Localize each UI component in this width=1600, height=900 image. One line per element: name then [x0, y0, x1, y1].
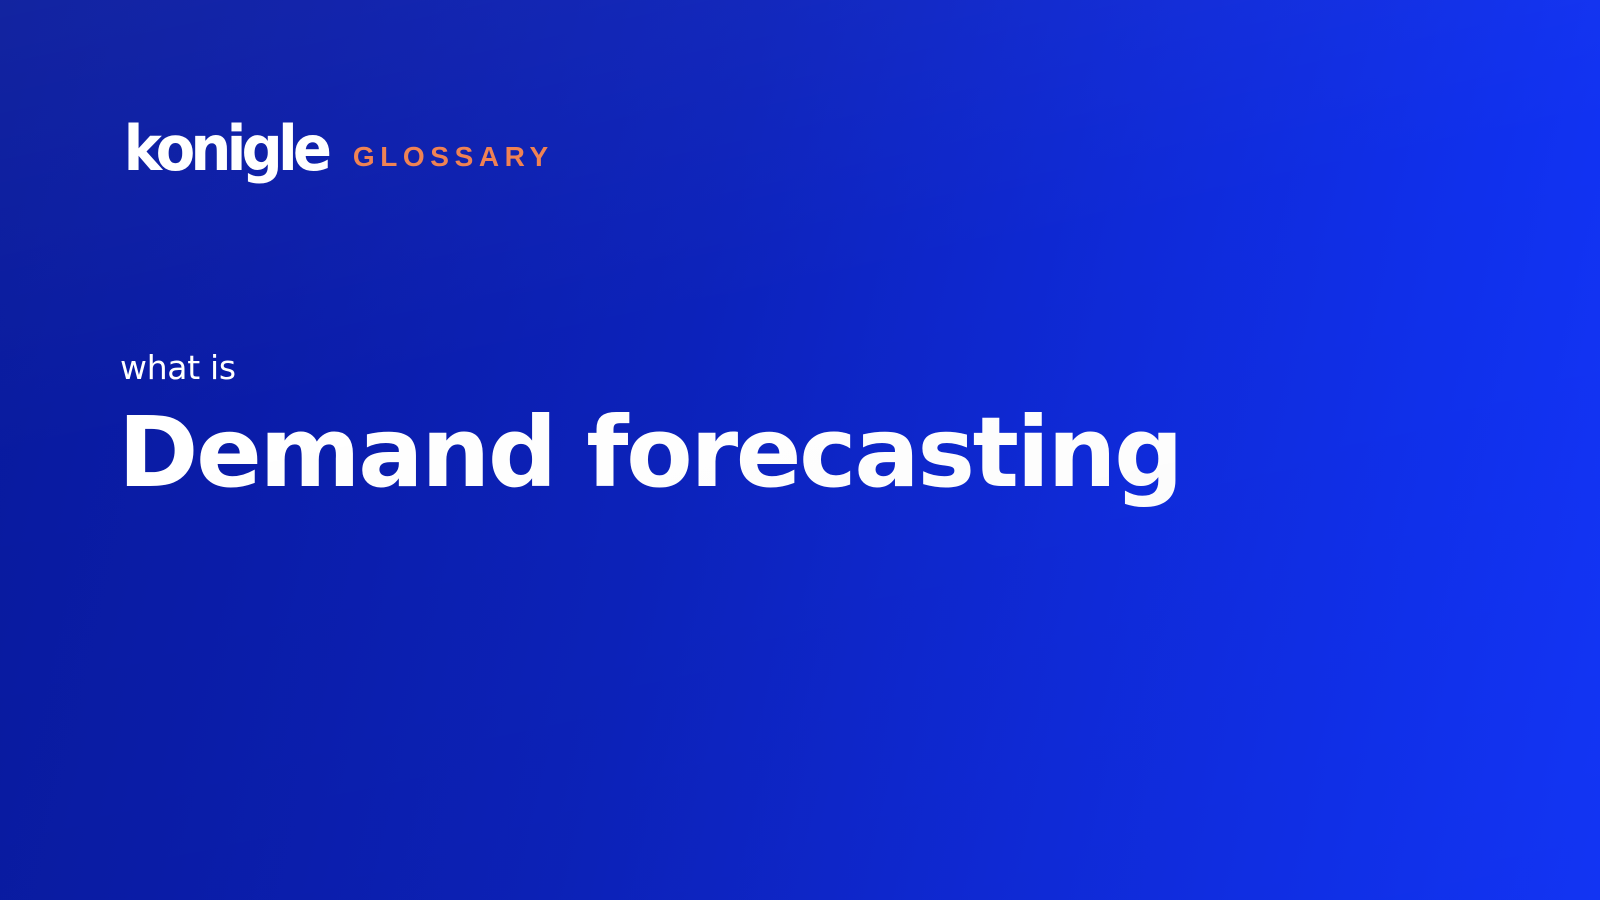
konigle-logo-wordmark[interactable]: konigle	[124, 118, 328, 180]
glossary-title-slide: konigle GLOSSARY what is Demand forecast…	[0, 0, 1600, 900]
eyebrow-text: what is	[120, 348, 1318, 388]
page-title: Demand forecasting	[118, 402, 1318, 504]
brand-bar: konigle GLOSSARY	[116, 118, 554, 180]
glossary-section-label: GLOSSARY	[353, 143, 554, 171]
headline-block: what is Demand forecasting	[118, 348, 1318, 503]
